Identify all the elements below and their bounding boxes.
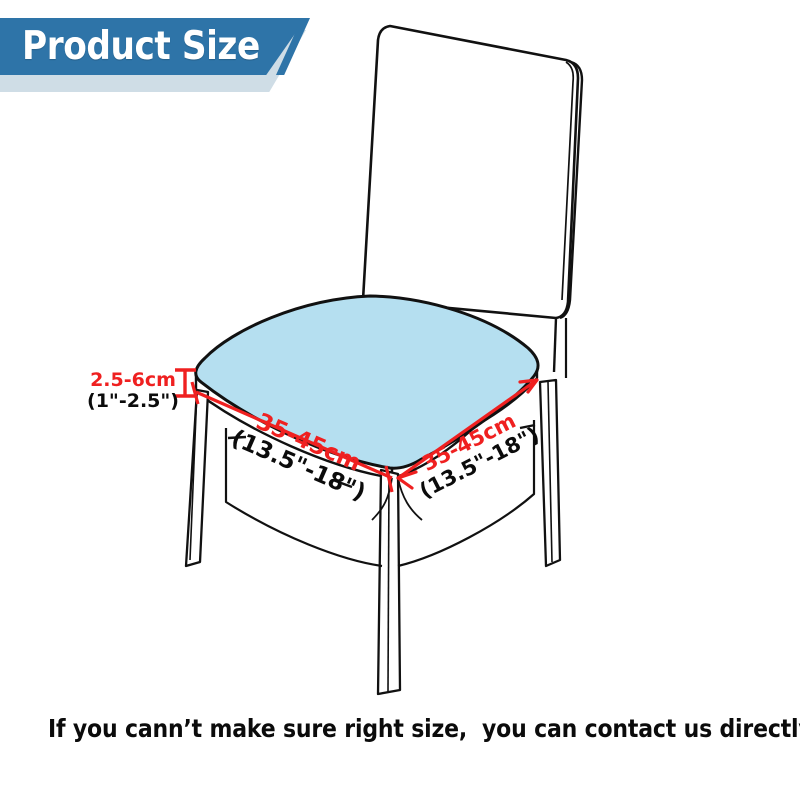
label-seat-thickness-inch: (1"-2.5") — [87, 390, 179, 412]
chair-backrest — [363, 26, 582, 318]
chair-leg-left — [186, 390, 208, 566]
label-seat-thickness-cm: 2.5-6cm — [90, 369, 176, 391]
chair-size-diagram: 2.5-6cm (1"-2.5") 35-45cm (13.5"-18") 35… — [0, 0, 800, 800]
label-seat-thickness: 2.5-6cm (1"-2.5") — [87, 369, 179, 412]
size-help-caption: If you cann’t make sure right size, you … — [48, 714, 752, 743]
